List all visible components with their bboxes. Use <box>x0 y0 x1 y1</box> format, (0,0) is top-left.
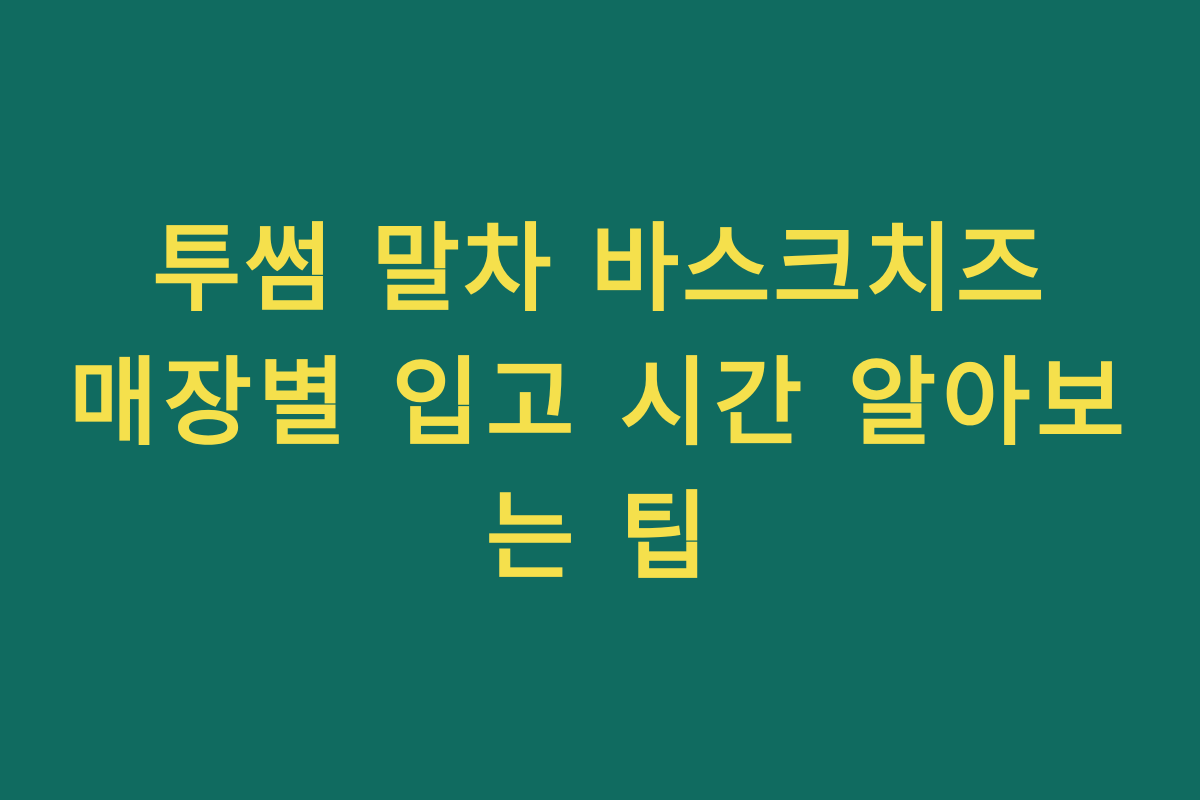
thumbnail-canvas: 투썸 말차 바스크치즈 매장별 입고 시간 알아보 는 팁 <box>0 0 1200 800</box>
headline-line-1: 투썸 말차 바스크치즈 <box>153 202 1048 336</box>
headline-line-3: 는 팁 <box>486 470 714 604</box>
headline-line-2: 매장별 입고 시간 알아보 <box>69 336 1130 470</box>
headline-block: 투썸 말차 바스크치즈 매장별 입고 시간 알아보 는 팁 <box>60 202 1140 604</box>
